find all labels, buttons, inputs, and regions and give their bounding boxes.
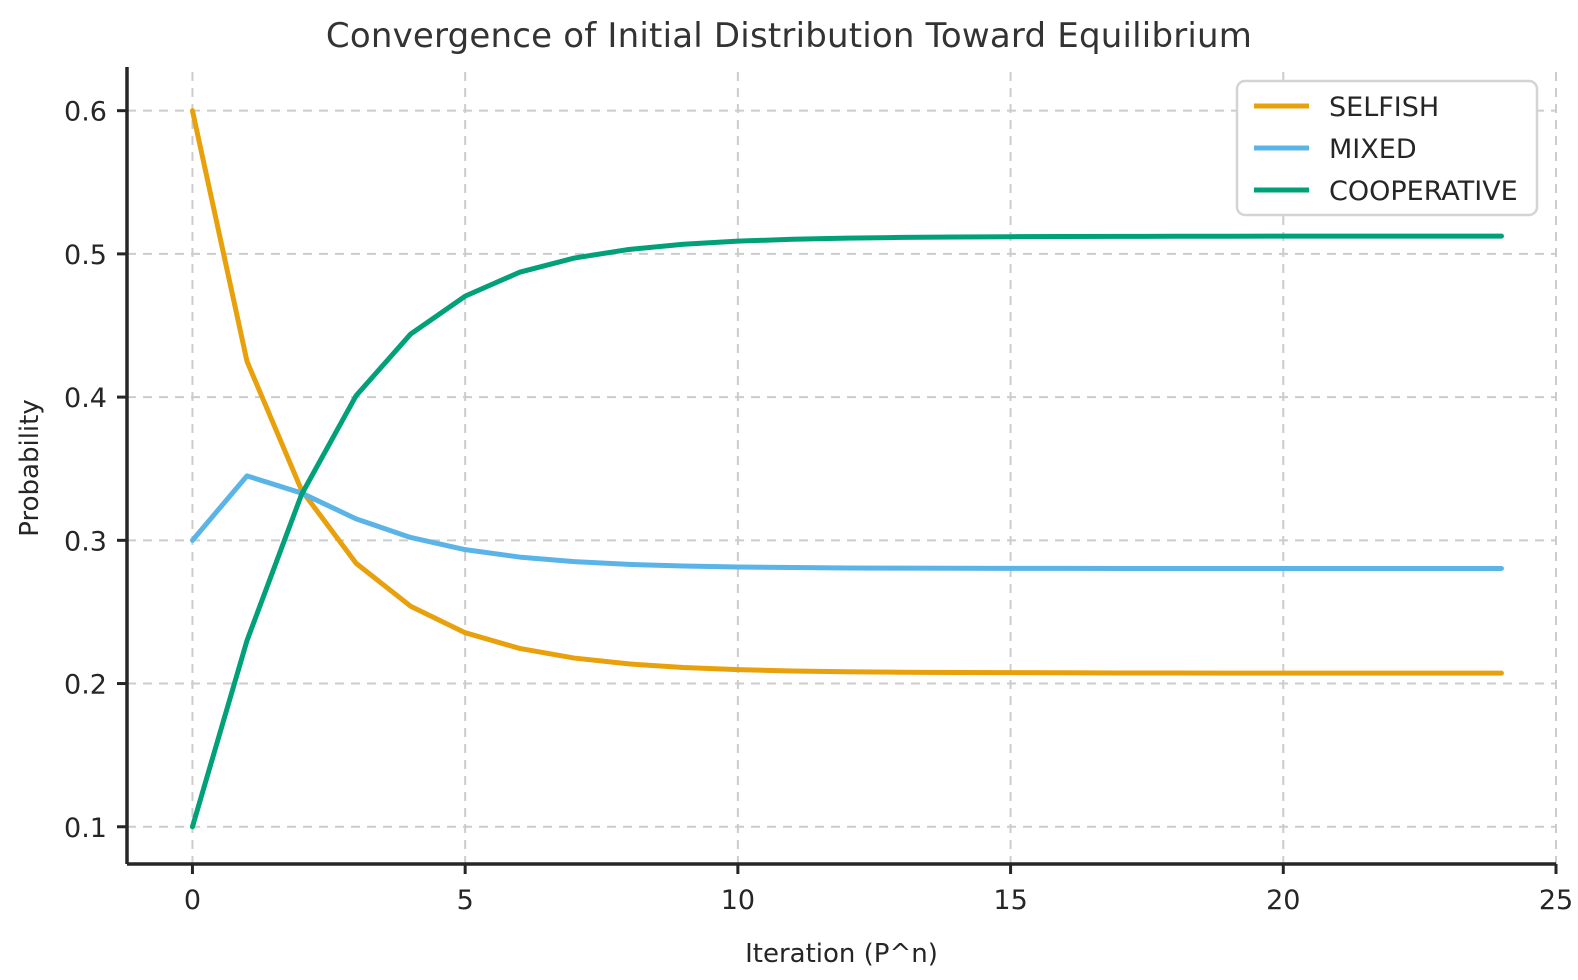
x-tick-label: 25	[1539, 885, 1573, 916]
legend-label-selfish[interactable]: SELFISH	[1329, 92, 1439, 123]
y-axis-title: Probability	[15, 399, 45, 536]
x-tick-label: 0	[184, 885, 201, 916]
line-chart-plot: 0.10.20.30.40.50.60510152025 Iteration (…	[0, 0, 1578, 980]
legend-label-mixed[interactable]: MIXED	[1329, 134, 1417, 165]
x-tick-label: 15	[993, 885, 1027, 916]
x-tick-label: 10	[721, 885, 755, 916]
chart-legend[interactable]: SELFISHMIXEDCOOPERATIVE	[1237, 81, 1537, 215]
y-tick-label: 0.1	[64, 813, 107, 844]
data-series	[192, 111, 1501, 827]
series-line-mixed	[192, 476, 1501, 569]
y-tick-label: 0.6	[64, 97, 107, 128]
axis-tick-labels: 0.10.20.30.40.50.60510152025	[64, 97, 1573, 916]
x-tick-label: 20	[1266, 885, 1300, 916]
y-tick-label: 0.3	[64, 526, 107, 557]
y-tick-label: 0.4	[64, 383, 107, 414]
x-axis-title: Iteration (P^n)	[745, 939, 938, 969]
x-tick-label: 5	[457, 885, 474, 916]
y-tick-label: 0.5	[64, 240, 107, 271]
chart-figure: Convergence of Initial Distribution Towa…	[0, 0, 1578, 980]
axis-ticks	[117, 111, 1556, 874]
y-tick-label: 0.2	[64, 670, 107, 701]
legend-label-cooperative[interactable]: COOPERATIVE	[1329, 176, 1518, 207]
